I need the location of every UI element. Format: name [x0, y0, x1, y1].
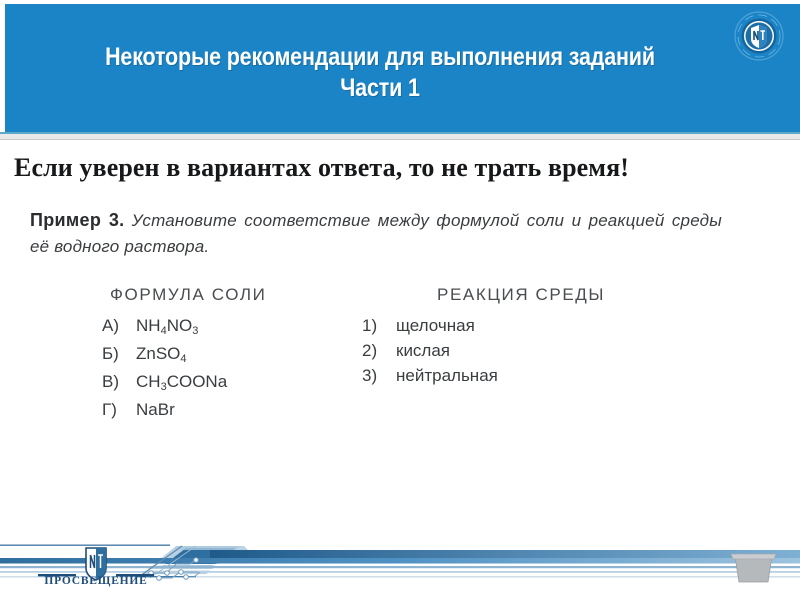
item-key: 3): [362, 363, 396, 388]
list-item: Б) ZnSO4: [82, 341, 372, 369]
header-separator-band: [0, 134, 800, 140]
item-key: А): [102, 313, 136, 338]
item-value: NaBr: [136, 397, 175, 422]
example-label: Пример 3.: [30, 210, 124, 230]
reaction-item-list: 1) щелочная 2) кислая 3) нейтральная: [352, 313, 652, 388]
formula-item-list: А) NH4NO3 Б) ZnSO4 В) CH3COONa Г) NaBr: [82, 313, 372, 422]
reaction-column: РЕАКЦИЯ СРЕДЫ 1) щелочная 2) кислая 3) н…: [352, 285, 652, 388]
page-title: Некоторые рекомендации для выполнения за…: [105, 42, 655, 104]
formula-column-heading: ФОРМУЛА СОЛИ: [82, 285, 372, 305]
formula-column: ФОРМУЛА СОЛИ А) NH4NO3 Б) ZnSO4 В) CH3CO…: [82, 285, 372, 422]
circular-ip-emblem-icon: [734, 11, 784, 61]
publisher-name: ПРОСВЕЩЕНИЕ: [36, 575, 156, 587]
slide-canvas: Некоторые рекомендации для выполнения за…: [0, 0, 800, 600]
list-item: 1) щелочная: [352, 313, 652, 338]
reaction-column-heading: РЕАКЦИЯ СРЕДЫ: [352, 285, 652, 305]
list-item: 3) нейтральная: [352, 363, 652, 388]
item-key: 1): [362, 313, 396, 338]
list-item: 2) кислая: [352, 338, 652, 363]
slide-header-banner: Некоторые рекомендации для выполнения за…: [5, 4, 800, 132]
item-key: 2): [362, 338, 396, 363]
item-value: ZnSO4: [136, 341, 187, 369]
list-item: В) CH3COONa: [82, 369, 372, 397]
example-block: Пример 3. Установите соответствие между …: [30, 207, 730, 260]
matching-columns: ФОРМУЛА СОЛИ А) NH4NO3 Б) ZnSO4 В) CH3CO…: [52, 285, 712, 420]
lead-statement: Если уверен в вариантах ответа, то не тр…: [14, 152, 784, 184]
item-value: нейтральная: [396, 363, 498, 388]
item-key: В): [102, 369, 136, 394]
list-item: А) NH4NO3: [82, 313, 372, 341]
slide-footer: ПРОСВЕЩЕНИЕ: [0, 520, 800, 600]
example-prompt-text: Установите соответствие между формулой с…: [30, 211, 722, 256]
item-value: NH4NO3: [136, 313, 198, 341]
example-prompt: Пример 3. Установите соответствие между …: [30, 207, 722, 260]
list-item: Г) NaBr: [82, 397, 372, 422]
item-key: Г): [102, 397, 136, 422]
item-value: CH3COONa: [136, 369, 227, 397]
item-key: Б): [102, 341, 136, 366]
item-value: щелочная: [396, 313, 475, 338]
item-value: кислая: [396, 338, 450, 363]
